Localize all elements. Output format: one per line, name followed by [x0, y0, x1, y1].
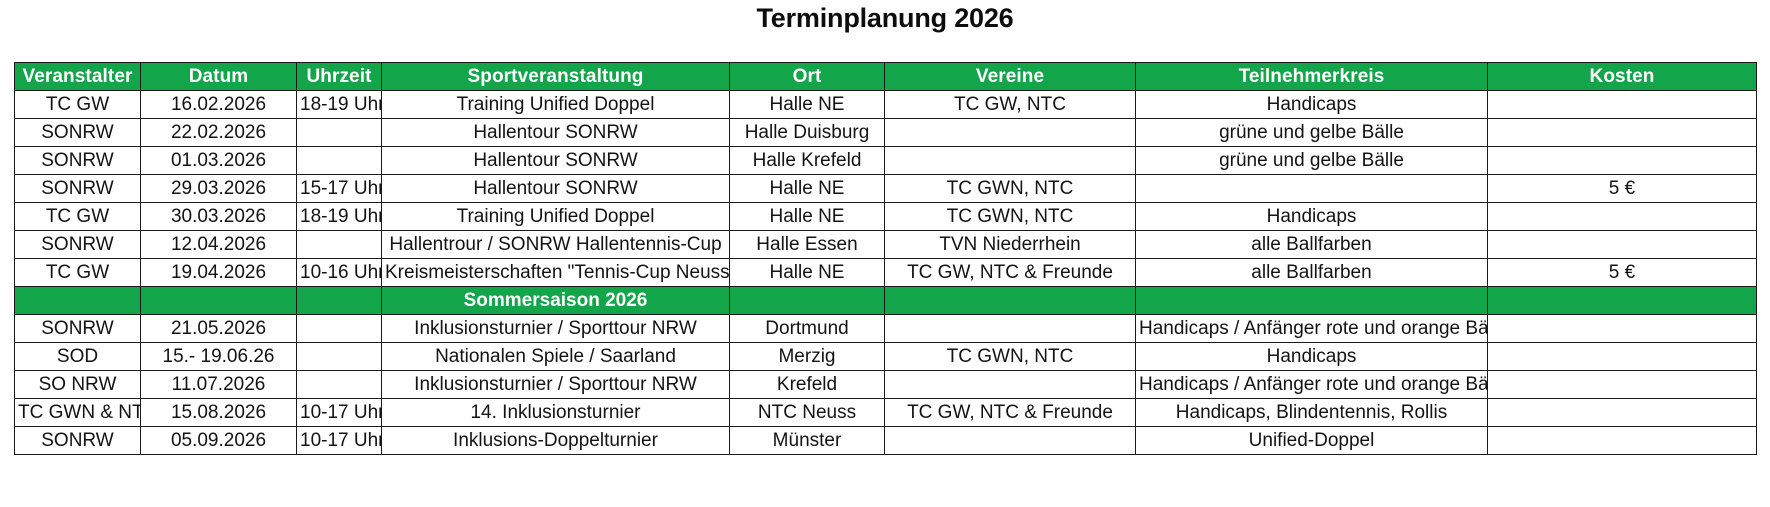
cell-ort: Krefeld	[730, 371, 885, 399]
cell-ort: Halle Essen	[730, 231, 885, 259]
cell-teilnehmerkreis: alle Ballfarben	[1136, 259, 1488, 287]
cell-vereine	[885, 119, 1136, 147]
cell-veranstalter: TC GW	[15, 203, 141, 231]
cell-kosten	[1488, 91, 1757, 119]
cell-vereine	[885, 371, 1136, 399]
cell-ort: Merzig	[730, 343, 885, 371]
cell-datum: 11.07.2026	[141, 371, 297, 399]
cell-uhrzeit: 10-16 Uhr	[297, 259, 382, 287]
cell-sportveranstaltung: 14. Inklusionsturnier	[382, 399, 730, 427]
section-cell-empty	[15, 287, 141, 315]
table-row[interactable]: TC GW19.04.202610-16 UhrKreismeisterscha…	[15, 259, 1757, 287]
cell-veranstalter: SONRW	[15, 119, 141, 147]
column-header-kosten[interactable]: Kosten	[1488, 63, 1757, 91]
column-header-datum[interactable]: Datum	[141, 63, 297, 91]
cell-ort: Münster	[730, 427, 885, 455]
cell-datum: 01.03.2026	[141, 147, 297, 175]
cell-uhrzeit	[297, 315, 382, 343]
cell-veranstalter: SO NRW	[15, 371, 141, 399]
cell-ort: Halle NE	[730, 203, 885, 231]
cell-kosten	[1488, 231, 1757, 259]
cell-sportveranstaltung: Inklusionsturnier / Sporttour NRW	[382, 371, 730, 399]
section-cell-empty	[297, 287, 382, 315]
cell-vereine: TC GWN, NTC	[885, 343, 1136, 371]
cell-uhrzeit: 10-17 Uhr	[297, 399, 382, 427]
column-header-veranstalter[interactable]: Veranstalter	[15, 63, 141, 91]
cell-sportveranstaltung: Hallentour SONRW	[382, 147, 730, 175]
cell-kosten	[1488, 427, 1757, 455]
cell-datum: 15.08.2026	[141, 399, 297, 427]
cell-teilnehmerkreis	[1136, 175, 1488, 203]
cell-datum: 19.04.2026	[141, 259, 297, 287]
cell-ort: Dortmund	[730, 315, 885, 343]
cell-veranstalter: SONRW	[15, 315, 141, 343]
cell-sportveranstaltung: Training Unified Doppel	[382, 91, 730, 119]
table-header: VeranstalterDatumUhrzeitSportveranstaltu…	[15, 63, 1757, 91]
schedule-table-container: VeranstalterDatumUhrzeitSportveranstaltu…	[14, 62, 1756, 455]
page-title: Terminplanung 2026	[0, 3, 1770, 34]
section-label: Sommersaison 2026	[382, 287, 730, 315]
section-row: Sommersaison 2026	[15, 287, 1757, 315]
column-header-ort[interactable]: Ort	[730, 63, 885, 91]
cell-uhrzeit	[297, 343, 382, 371]
cell-kosten	[1488, 203, 1757, 231]
table-row[interactable]: SONRW12.04.2026Hallentrour / SONRW Halle…	[15, 231, 1757, 259]
section-cell-empty	[730, 287, 885, 315]
cell-kosten	[1488, 399, 1757, 427]
cell-uhrzeit	[297, 231, 382, 259]
cell-teilnehmerkreis: Handicaps, Blindentennis, Rollis	[1136, 399, 1488, 427]
cell-kosten	[1488, 371, 1757, 399]
cell-sportveranstaltung: Inklusions-Doppelturnier	[382, 427, 730, 455]
cell-datum: 12.04.2026	[141, 231, 297, 259]
table-row[interactable]: SONRW21.05.2026Inklusionsturnier / Sport…	[15, 315, 1757, 343]
cell-uhrzeit: 15-17 Uhr	[297, 175, 382, 203]
cell-uhrzeit: 10-17 Uhr	[297, 427, 382, 455]
table-row[interactable]: SONRW22.02.2026Hallentour SONRWHalle Dui…	[15, 119, 1757, 147]
page-root: Terminplanung 2026 VeranstalterDatumUhrz…	[0, 0, 1770, 507]
section-cell-empty	[885, 287, 1136, 315]
cell-datum: 15.- 19.06.26	[141, 343, 297, 371]
cell-datum: 05.09.2026	[141, 427, 297, 455]
cell-datum: 22.02.2026	[141, 119, 297, 147]
cell-sportveranstaltung: Hallentour SONRW	[382, 119, 730, 147]
cell-vereine: TC GWN, NTC	[885, 203, 1136, 231]
cell-uhrzeit	[297, 119, 382, 147]
cell-sportveranstaltung: Hallentrour / SONRW Hallentennis-Cup	[382, 231, 730, 259]
section-cell-empty	[1136, 287, 1488, 315]
cell-ort: Halle NE	[730, 259, 885, 287]
cell-kosten: 5 €	[1488, 175, 1757, 203]
cell-kosten	[1488, 147, 1757, 175]
cell-veranstalter: TC GWN & NTC	[15, 399, 141, 427]
cell-veranstalter: SOD	[15, 343, 141, 371]
cell-kosten	[1488, 119, 1757, 147]
table-row[interactable]: SONRW01.03.2026Hallentour SONRWHalle Kre…	[15, 147, 1757, 175]
cell-uhrzeit	[297, 147, 382, 175]
cell-vereine	[885, 315, 1136, 343]
cell-teilnehmerkreis: Unified-Doppel	[1136, 427, 1488, 455]
cell-sportveranstaltung: Nationalen Spiele / Saarland	[382, 343, 730, 371]
table-row[interactable]: TC GW30.03.202618-19 UhrTraining Unified…	[15, 203, 1757, 231]
cell-vereine	[885, 147, 1136, 175]
section-cell-empty	[141, 287, 297, 315]
cell-ort: Halle Krefeld	[730, 147, 885, 175]
table-row[interactable]: SOD15.- 19.06.26Nationalen Spiele / Saar…	[15, 343, 1757, 371]
table-row[interactable]: TC GWN & NTC15.08.202610-17 Uhr14. Inklu…	[15, 399, 1757, 427]
cell-kosten	[1488, 315, 1757, 343]
column-header-teilnehmerkreis[interactable]: Teilnehmerkreis	[1136, 63, 1488, 91]
cell-veranstalter: TC GW	[15, 259, 141, 287]
cell-sportveranstaltung: Kreismeisterschaften "Tennis-Cup Neuss"	[382, 259, 730, 287]
cell-veranstalter: SONRW	[15, 175, 141, 203]
table-row[interactable]: SONRW05.09.202610-17 UhrInklusions-Doppe…	[15, 427, 1757, 455]
cell-teilnehmerkreis: Handicaps / Anfänger rote und orange Bäl…	[1136, 315, 1488, 343]
column-header-sportveranstaltung[interactable]: Sportveranstaltung	[382, 63, 730, 91]
cell-veranstalter: TC GW	[15, 91, 141, 119]
cell-ort: Halle Duisburg	[730, 119, 885, 147]
cell-vereine: TC GW, NTC	[885, 91, 1136, 119]
table-body: TC GW16.02.202618-19 UhrTraining Unified…	[15, 91, 1757, 455]
cell-sportveranstaltung: Training Unified Doppel	[382, 203, 730, 231]
cell-ort: Halle NE	[730, 91, 885, 119]
cell-datum: 29.03.2026	[141, 175, 297, 203]
table-header-row: VeranstalterDatumUhrzeitSportveranstaltu…	[15, 63, 1757, 91]
column-header-uhrzeit[interactable]: Uhrzeit	[297, 63, 382, 91]
cell-vereine: TC GW, NTC & Freunde	[885, 259, 1136, 287]
table-row[interactable]: SO NRW11.07.2026Inklusionsturnier / Spor…	[15, 371, 1757, 399]
cell-teilnehmerkreis: Handicaps / Anfänger rote und orange Bäl…	[1136, 371, 1488, 399]
cell-vereine: TC GW, NTC & Freunde	[885, 399, 1136, 427]
cell-uhrzeit: 18-19 Uhr	[297, 91, 382, 119]
section-cell-empty	[1488, 287, 1757, 315]
cell-teilnehmerkreis: Handicaps	[1136, 203, 1488, 231]
table-row[interactable]: TC GW16.02.202618-19 UhrTraining Unified…	[15, 91, 1757, 119]
cell-veranstalter: SONRW	[15, 147, 141, 175]
cell-teilnehmerkreis: Handicaps	[1136, 343, 1488, 371]
cell-veranstalter: SONRW	[15, 231, 141, 259]
cell-teilnehmerkreis: grüne und gelbe Bälle	[1136, 147, 1488, 175]
cell-datum: 21.05.2026	[141, 315, 297, 343]
cell-uhrzeit	[297, 371, 382, 399]
cell-kosten: 5 €	[1488, 259, 1757, 287]
cell-sportveranstaltung: Hallentour SONRW	[382, 175, 730, 203]
column-header-vereine[interactable]: Vereine	[885, 63, 1136, 91]
cell-sportveranstaltung: Inklusionsturnier / Sporttour NRW	[382, 315, 730, 343]
cell-datum: 16.02.2026	[141, 91, 297, 119]
cell-vereine: TVN Niederrhein	[885, 231, 1136, 259]
cell-uhrzeit: 18-19 Uhr	[297, 203, 382, 231]
schedule-table: VeranstalterDatumUhrzeitSportveranstaltu…	[14, 62, 1757, 455]
table-row[interactable]: SONRW29.03.202615-17 UhrHallentour SONRW…	[15, 175, 1757, 203]
cell-vereine: TC GWN, NTC	[885, 175, 1136, 203]
cell-ort: Halle NE	[730, 175, 885, 203]
cell-teilnehmerkreis: grüne und gelbe Bälle	[1136, 119, 1488, 147]
cell-vereine	[885, 427, 1136, 455]
cell-kosten	[1488, 343, 1757, 371]
cell-ort: NTC Neuss	[730, 399, 885, 427]
cell-veranstalter: SONRW	[15, 427, 141, 455]
cell-datum: 30.03.2026	[141, 203, 297, 231]
cell-teilnehmerkreis: alle Ballfarben	[1136, 231, 1488, 259]
cell-teilnehmerkreis: Handicaps	[1136, 91, 1488, 119]
